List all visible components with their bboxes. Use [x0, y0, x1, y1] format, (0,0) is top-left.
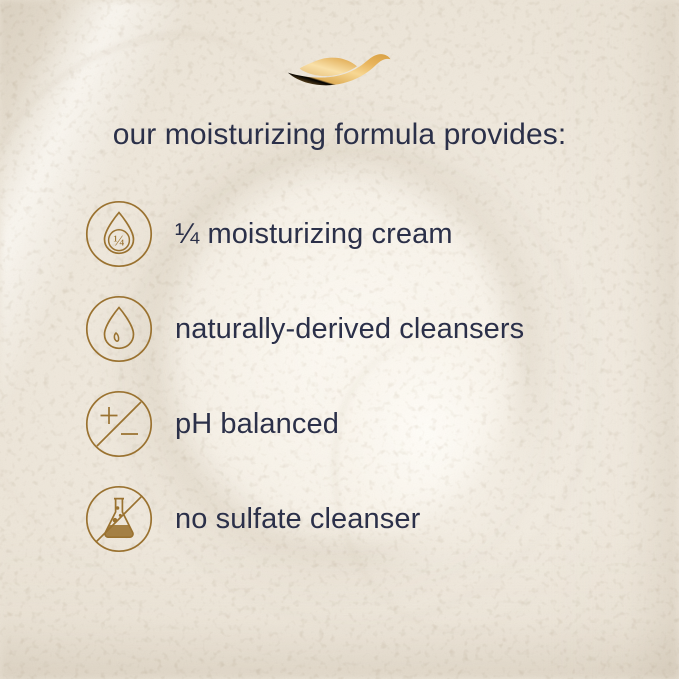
natural-droplet-icon: [84, 294, 154, 364]
dove-logo: [0, 44, 679, 92]
droplet-fraction-label: ¼: [113, 233, 124, 249]
list-item-label: pH balanced: [175, 406, 339, 442]
list-item: ¼ ¼ moisturizing cream: [84, 186, 644, 281]
list-item-label: naturally-derived cleansers: [175, 311, 524, 347]
promo-image: our moisturizing formula provides: ¼ ¼ m…: [0, 0, 679, 679]
ph-balanced-plus-minus-icon: [84, 389, 154, 459]
list-item: pH balanced: [84, 376, 644, 471]
dove-bird-icon: [286, 45, 394, 91]
no-sulfate-flask-crossed-out-icon: [84, 484, 154, 554]
quarter-moisturizing-droplet-icon: ¼: [84, 199, 154, 269]
page-title: our moisturizing formula provides:: [0, 115, 679, 155]
list-item: naturally-derived cleansers: [84, 281, 644, 376]
list-item-label: ¼ moisturizing cream: [175, 216, 453, 252]
list-item: no sulfate cleanser: [84, 471, 644, 566]
list-item-label: no sulfate cleanser: [175, 501, 420, 537]
feature-list: ¼ ¼ moisturizing cream naturally-derived…: [84, 186, 644, 566]
